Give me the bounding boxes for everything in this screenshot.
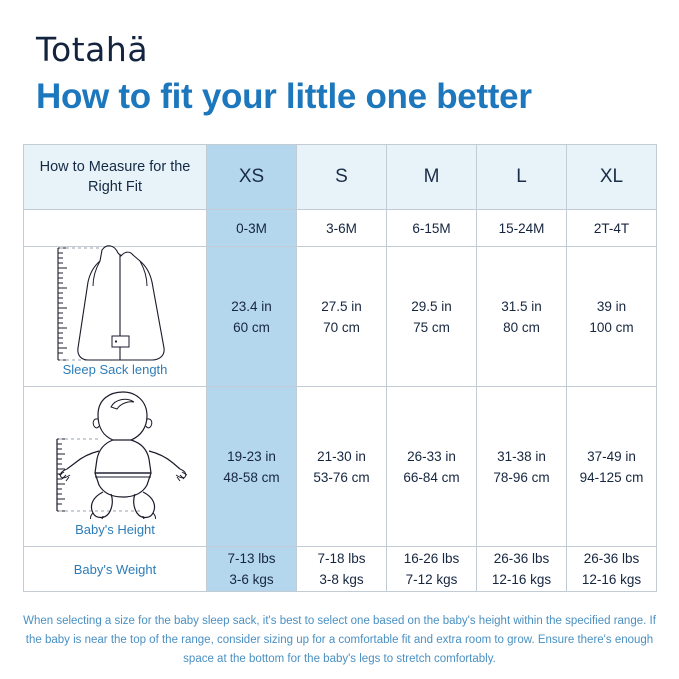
- size-header-s: S: [297, 145, 387, 210]
- sleep-sack-m-in: 29.5 in: [387, 296, 476, 317]
- baby-height-s-cm: 53-76 cm: [297, 467, 386, 488]
- brand-wordmark: Totahä: [36, 28, 336, 72]
- sleep-sack-s-in: 27.5 in: [297, 296, 386, 317]
- baby-weight-s-kgs: 3-8 kgs: [297, 569, 386, 590]
- sleep-sack-xs: 23.4 in 60 cm: [207, 247, 297, 387]
- baby-height-s-in: 21-30 in: [297, 446, 386, 467]
- baby-height-l-cm: 78-96 cm: [477, 467, 566, 488]
- baby-weight-xl-lbs: 26-36 lbs: [567, 548, 656, 569]
- age-xs: 0-3M: [207, 210, 297, 247]
- baby-height-xl-in: 37-49 in: [567, 446, 656, 467]
- sleep-sack-illustration: [24, 247, 206, 360]
- baby-height-m-cm: 66-84 cm: [387, 467, 476, 488]
- baby-weight-l-kgs: 12-16 kgs: [477, 569, 566, 590]
- sleep-sack-xs-in: 23.4 in: [207, 296, 296, 317]
- sleep-sack-l: 31.5 in 80 cm: [477, 247, 567, 387]
- baby-weight-xs-kgs: 3-6 kgs: [207, 569, 296, 590]
- baby-height-l: 31-38 in 78-96 cm: [477, 387, 567, 547]
- baby-height-label-cell: Baby's Height: [24, 387, 207, 547]
- sizing-note: When selecting a size for the baby sleep…: [23, 612, 656, 669]
- baby-height-xl-cm: 94-125 cm: [567, 467, 656, 488]
- page-title: How to fit your little one better: [36, 76, 656, 118]
- age-xl: 2T-4T: [567, 210, 657, 247]
- baby-weight-m-lbs: 16-26 lbs: [387, 548, 476, 569]
- baby-height-m: 26-33 in 66-84 cm: [387, 387, 477, 547]
- baby-height-l-in: 31-38 in: [477, 446, 566, 467]
- baby-weight-m-kgs: 7-12 kgs: [387, 569, 476, 590]
- baby-weight-s: 7-18 lbs 3-8 kgs: [297, 547, 387, 592]
- sleep-sack-xl-in: 39 in: [567, 296, 656, 317]
- baby-weight-l-lbs: 26-36 lbs: [477, 548, 566, 569]
- sleep-sack-m-cm: 75 cm: [387, 317, 476, 338]
- table-row-baby-weight: Baby's Weight 7-13 lbs 3-6 kgs 7-18 lbs …: [24, 547, 657, 592]
- size-chart-table: How to Measure for the Right Fit XS S M …: [23, 144, 657, 592]
- sleep-sack-label-cell: Sleep Sack length: [24, 247, 207, 387]
- sleep-sack-s-cm: 70 cm: [297, 317, 386, 338]
- sleep-sack-xs-cm: 60 cm: [207, 317, 296, 338]
- baby-height-m-in: 26-33 in: [387, 446, 476, 467]
- baby-weight-xs: 7-13 lbs 3-6 kgs: [207, 547, 297, 592]
- size-header-xl: XL: [567, 145, 657, 210]
- baby-weight-label: Baby's Weight: [24, 562, 206, 577]
- baby-weight-xl-kgs: 12-16 kgs: [567, 569, 656, 590]
- sleep-sack-xl-cm: 100 cm: [567, 317, 656, 338]
- baby-weight-xs-lbs: 7-13 lbs: [207, 548, 296, 569]
- sleep-sack-xl: 39 in 100 cm: [567, 247, 657, 387]
- baby-height-xs: 19-23 in 48-58 cm: [207, 387, 297, 547]
- corner-header: How to Measure for the Right Fit: [24, 145, 207, 210]
- baby-height-s: 21-30 in 53-76 cm: [297, 387, 387, 547]
- table-row-sleep-sack-length: Sleep Sack length 23.4 in 60 cm 27.5 in …: [24, 247, 657, 387]
- baby-weight-l: 26-36 lbs 12-16 kgs: [477, 547, 567, 592]
- table-row-baby-height: Baby's Height 19-23 in 48-58 cm 21-30 in…: [24, 387, 657, 547]
- age-s: 3-6M: [297, 210, 387, 247]
- baby-height-xs-cm: 48-58 cm: [207, 467, 296, 488]
- baby-height-label: Baby's Height: [24, 522, 206, 537]
- size-guide-page: Totahä How to fit your little one better…: [0, 0, 679, 679]
- sleep-sack-s: 27.5 in 70 cm: [297, 247, 387, 387]
- sleep-sack-l-in: 31.5 in: [477, 296, 566, 317]
- age-l: 15-24M: [477, 210, 567, 247]
- size-header-l: L: [477, 145, 567, 210]
- baby-weight-m: 16-26 lbs 7-12 kgs: [387, 547, 477, 592]
- table-header-row: How to Measure for the Right Fit XS S M …: [24, 145, 657, 210]
- brand-logo: Totahä: [36, 28, 336, 74]
- baby-weight-label-cell: Baby's Weight: [24, 547, 207, 592]
- size-header-m: M: [387, 145, 477, 210]
- sleep-sack-m: 29.5 in 75 cm: [387, 247, 477, 387]
- age-m: 6-15M: [387, 210, 477, 247]
- sleep-sack-label: Sleep Sack length: [24, 362, 206, 377]
- baby-weight-s-lbs: 7-18 lbs: [297, 548, 386, 569]
- baby-illustration: [24, 387, 206, 520]
- baby-height-xs-in: 19-23 in: [207, 446, 296, 467]
- baby-weight-xl: 26-36 lbs 12-16 kgs: [567, 547, 657, 592]
- size-header-xs: XS: [207, 145, 297, 210]
- sleep-sack-l-cm: 80 cm: [477, 317, 566, 338]
- baby-height-xl: 37-49 in 94-125 cm: [567, 387, 657, 547]
